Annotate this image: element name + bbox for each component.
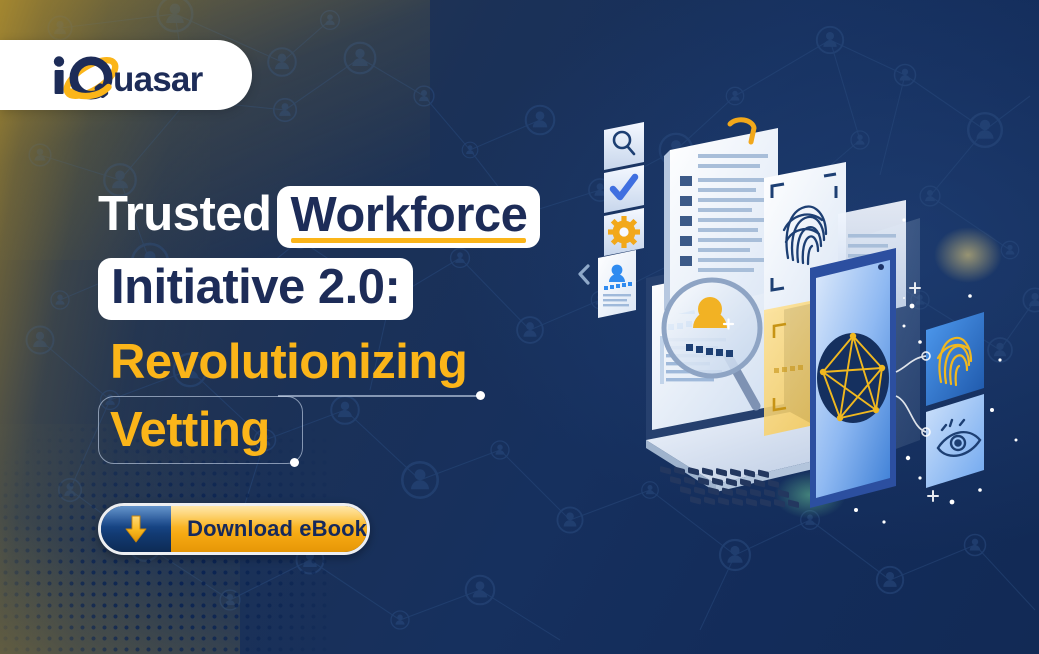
sparkle-dots	[854, 218, 1018, 523]
gold-card-brackets	[774, 324, 846, 410]
clipboard-clip	[730, 120, 754, 142]
clipboard-document	[664, 120, 778, 316]
laptop-screen	[652, 260, 784, 430]
gold-accent-card	[764, 292, 856, 436]
tablet-device	[810, 248, 896, 508]
fingerprint-icon	[938, 338, 971, 385]
tablet-camera	[878, 264, 884, 270]
screen-stars	[668, 318, 710, 330]
headline-line-1: Trusted Workforce	[98, 186, 618, 252]
shield-network-node	[817, 333, 889, 423]
connector-wires	[896, 352, 930, 436]
connector-node-dot-right	[476, 391, 485, 400]
download-ebook-button[interactable]: Download eBook	[98, 503, 370, 555]
eye-scan-side-card	[926, 394, 984, 488]
headline-line-4: Vetting	[98, 402, 618, 468]
logo-wordmark: uasar	[113, 60, 204, 99]
headline-line-2: Initiative 2.0:	[98, 258, 618, 324]
promo-banner: uasar Trusted Workforce Initiative 2.0: …	[0, 0, 1039, 654]
headline-connector-line	[278, 395, 478, 397]
headline-word-vetting: Vetting	[98, 402, 270, 459]
node-edges	[823, 336, 882, 418]
back-document	[838, 200, 906, 322]
logo-i-dot	[54, 56, 64, 66]
download-button-icon-panel[interactable]	[101, 506, 171, 552]
magnified-avatar	[693, 297, 733, 329]
logo-bar[interactable]: uasar	[0, 40, 252, 110]
fingerprint-document	[764, 162, 846, 314]
headline-gold-underline	[291, 238, 526, 243]
download-arrow-icon	[123, 514, 149, 544]
laptop-base	[646, 412, 860, 484]
fingerprint-side-card	[926, 312, 984, 406]
logo-mark: uasar	[50, 47, 230, 103]
ambient-glow-yellow	[934, 227, 1002, 283]
download-button-label-panel[interactable]: Download eBook	[171, 506, 367, 552]
clipboard-rows	[680, 154, 768, 272]
gold-card-stars	[774, 365, 803, 373]
laptop-screen-frame	[646, 250, 790, 440]
laptop-keys	[660, 466, 799, 508]
headline-word-revolutionizing: Revolutionizing	[98, 334, 467, 391]
headline-pill-workforce: Workforce	[277, 186, 540, 248]
node-points	[820, 333, 885, 421]
download-button-label: Download eBook	[187, 516, 367, 542]
magnified-stars	[686, 344, 733, 357]
magnifier-icon	[614, 132, 634, 154]
magnifier-card	[604, 122, 644, 170]
connector-node-dot-bottom	[290, 458, 299, 467]
logo-i-stem	[55, 70, 64, 94]
magnifying-glass	[664, 280, 760, 406]
eye-scan-icon	[938, 420, 980, 456]
ghost-panel	[850, 218, 920, 466]
laptop	[646, 250, 860, 508]
headline-pill-initiative: Initiative 2.0:	[98, 258, 413, 320]
ambient-glow-green	[774, 471, 846, 519]
headline-word-workforce: Workforce	[290, 190, 527, 240]
headline-block: Trusted Workforce Initiative 2.0: Revolu…	[98, 186, 618, 468]
scan-brackets	[772, 174, 836, 290]
headline-word-trusted: Trusted	[98, 186, 271, 243]
tablet-screen	[816, 260, 890, 498]
fingerprint-icon	[784, 207, 826, 264]
headline-line-3: Revolutionizing	[98, 334, 618, 400]
screen-profile	[660, 292, 726, 384]
iquasar-logo[interactable]: uasar	[50, 47, 230, 103]
plus-accents	[904, 283, 938, 501]
headline-word-initiative: Initiative 2.0:	[111, 262, 400, 312]
vetting-illustration	[560, 110, 1039, 540]
